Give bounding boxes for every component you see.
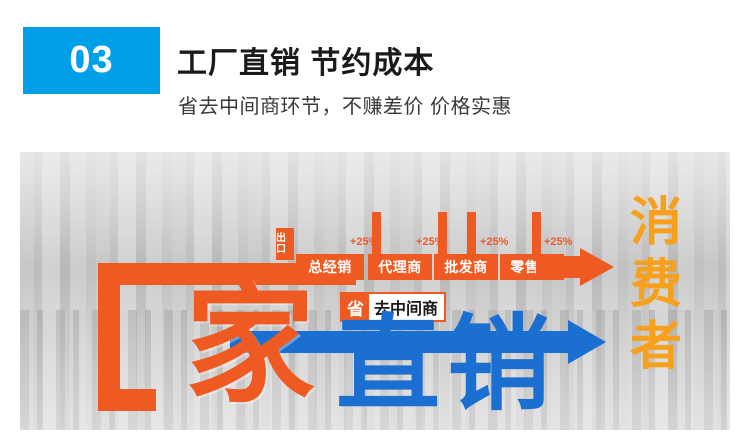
page-title: 工厂直销 节约成本 [177, 38, 434, 82]
markup-label-1: +25% [350, 236, 378, 248]
markup-label-3: +25% [480, 236, 508, 248]
consumer-label: 消费者 [612, 192, 702, 378]
middleman-bar-2: 代理商 [368, 254, 432, 280]
export-label: 出口 [276, 228, 294, 260]
headline-direct-sale: 直销 [336, 312, 556, 416]
middleman-name-3: 批发商 [444, 257, 488, 277]
markup-label-2: +25% [416, 236, 444, 248]
middleman-riser-3 [467, 212, 476, 256]
section-number-badge: 03 [23, 27, 160, 94]
orange-arrow-shaft [536, 256, 586, 278]
section-number: 03 [69, 39, 113, 82]
orange-arrow-head-icon [580, 248, 614, 286]
promo-banner: 出口 +25% +25% +25% +25% 总经销 代理商 批发商 零售商 省… [20, 152, 730, 430]
orange-bracket-foot [120, 389, 156, 411]
markup-label-4: +25% [544, 236, 572, 248]
middleman-name-2: 代理商 [378, 257, 422, 277]
page-subtitle: 省去中间商环节，不赚差价 价格实惠 [178, 90, 512, 119]
headline-factory-big: 家 [185, 280, 315, 410]
middleman-riser-2 [438, 212, 447, 256]
middleman-riser-4 [532, 212, 541, 256]
middleman-bar-3: 批发商 [434, 254, 498, 280]
blue-arrow-head-icon [568, 320, 606, 364]
orange-bracket-left [98, 263, 120, 411]
section-header: 03 工厂直销 节约成本 省去中间商环节，不赚差价 价格实惠 [0, 0, 748, 150]
middleman-riser-1 [372, 212, 381, 256]
